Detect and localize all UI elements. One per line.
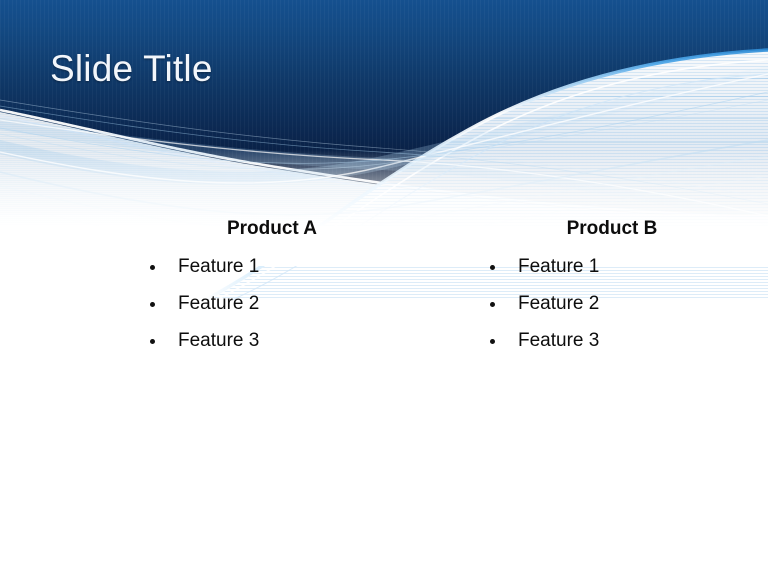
bullet-icon [490,265,495,270]
bullet-icon [490,302,495,307]
product-a-heading: Product A [130,216,400,242]
page-title: Slide Title [50,48,213,90]
list-item: Feature 2 [470,285,740,322]
list-item-label: Feature 1 [518,256,599,277]
list-item-label: Feature 1 [178,256,259,277]
list-item: Feature 2 [130,285,400,322]
list-item-label: Feature 3 [178,330,259,351]
product-b-feature-list: Feature 1 Feature 2 Feature 3 [470,248,740,359]
title-background-band [0,0,768,215]
list-item-label: Feature 3 [518,330,599,351]
presentation-slide: Slide Title Product A Feature 1 Feature … [0,0,768,576]
product-column-a: Product A Feature 1 Feature 2 Feature 3 [130,216,400,359]
bullet-icon [490,339,495,344]
list-item-label: Feature 2 [518,293,599,314]
slide-body: Product A Feature 1 Feature 2 Feature 3 … [0,216,768,576]
product-b-heading: Product B [470,216,740,242]
list-item: Feature 3 [130,322,400,359]
list-item: Feature 1 [470,248,740,285]
list-item-label: Feature 2 [178,293,259,314]
list-item: Feature 1 [130,248,400,285]
list-item: Feature 3 [470,322,740,359]
product-a-feature-list: Feature 1 Feature 2 Feature 3 [130,248,400,359]
bullet-icon [150,339,155,344]
bullet-icon [150,302,155,307]
product-column-b: Product B Feature 1 Feature 2 Feature 3 [470,216,740,359]
bullet-icon [150,265,155,270]
